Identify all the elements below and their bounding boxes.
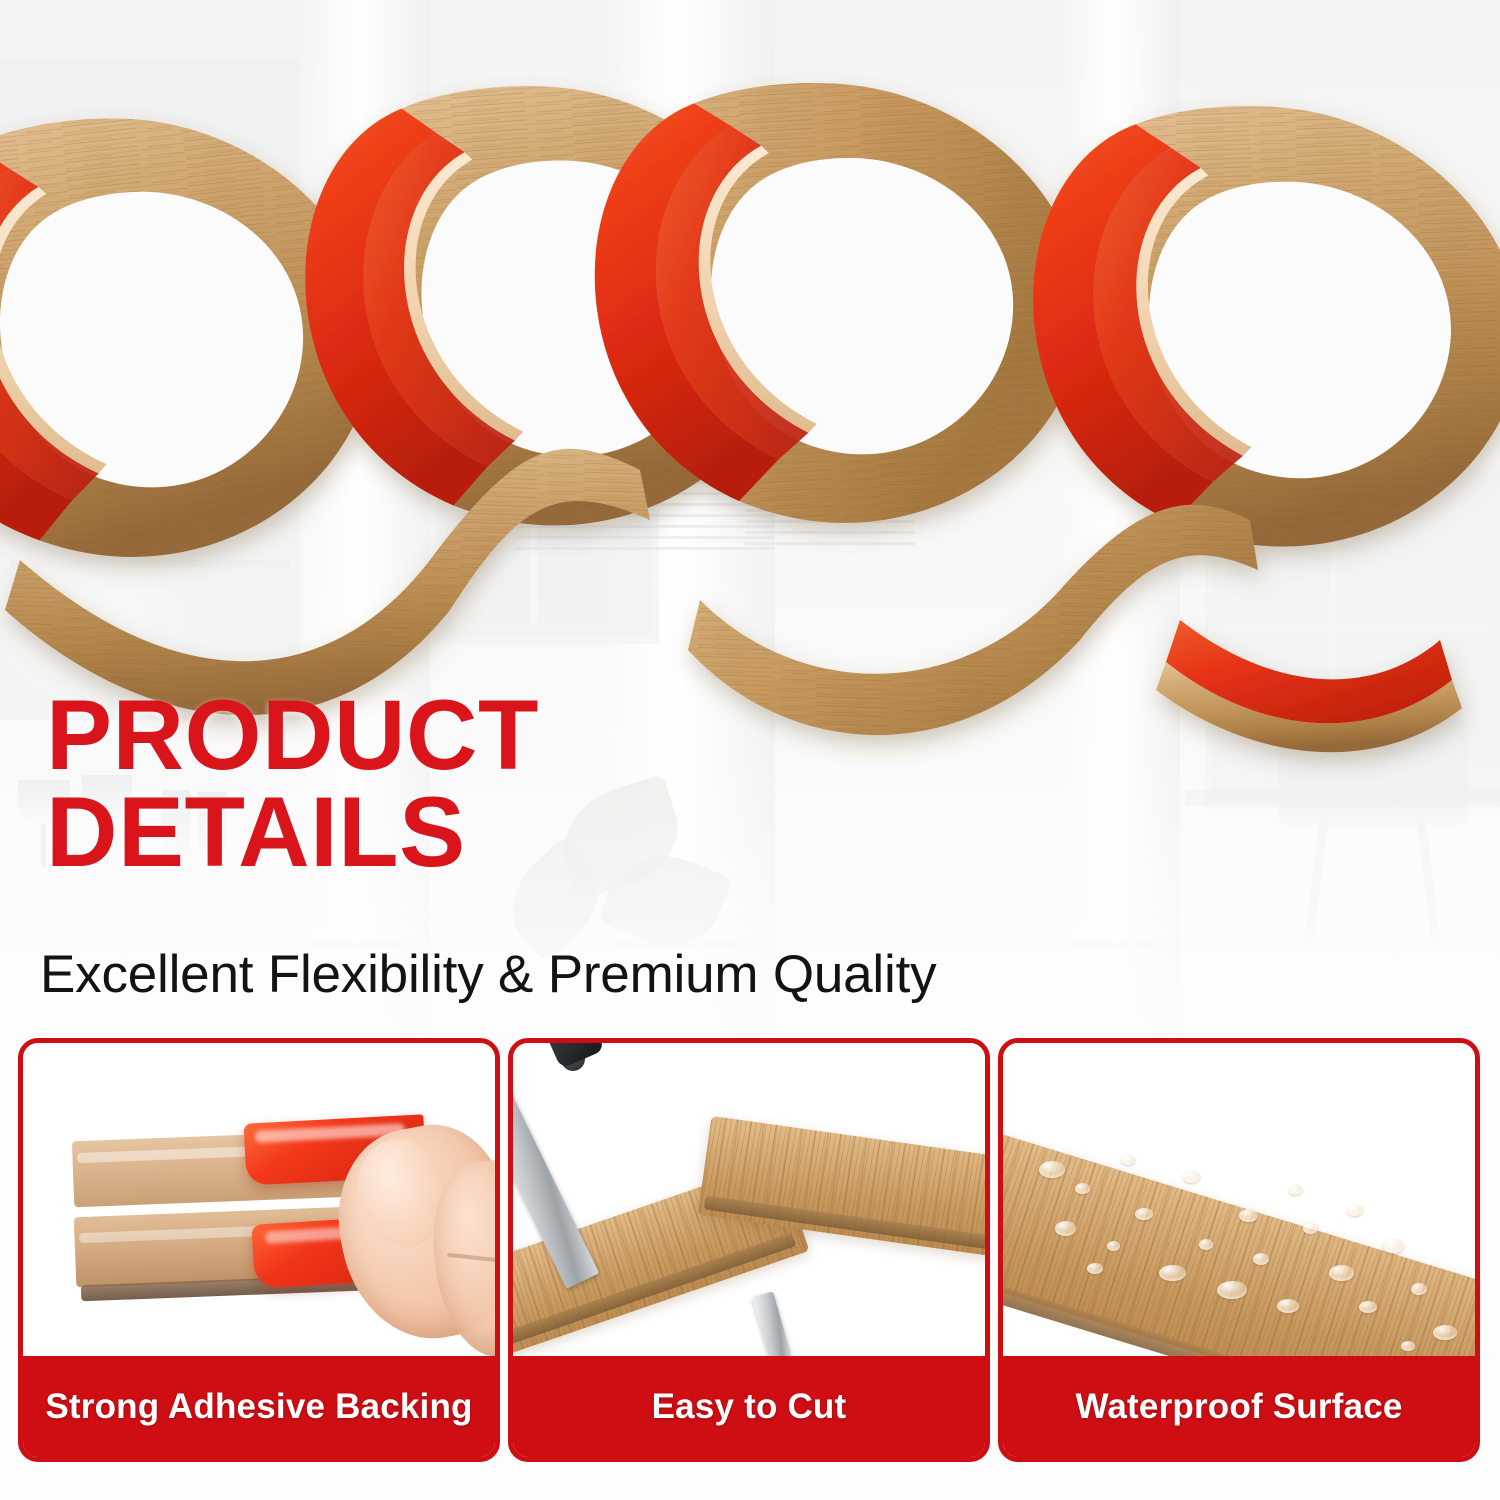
water-droplet [1039,1161,1065,1178]
bg-cabinet-shelf [10,330,290,337]
panel-caption-bar-cut: Easy to Cut [512,1356,986,1458]
water-droplet [1121,1155,1135,1165]
water-droplet [1433,1325,1457,1340]
panel-caption-bar-adhesive: Strong Adhesive Backing [22,1356,496,1458]
banding-strip-wet [1003,1113,1475,1367]
water-droplet [1253,1253,1269,1265]
water-droplet [1411,1283,1427,1295]
easy-to-cut-photo [513,1043,985,1367]
bg-wave-panel [515,440,775,550]
feature-panel-cut[interactable]: Easy to Cut [508,1038,990,1462]
feature-panel-adhesive[interactable]: Strong Adhesive Backing [18,1038,500,1462]
water-droplet [1107,1241,1120,1251]
water-droplet [1159,1265,1186,1281]
water-droplet [1217,1281,1247,1299]
panel-caption-text: Strong Adhesive Backing [45,1387,472,1427]
page-title: PRODUCT DETAILS [46,686,539,880]
water-droplet [1401,1341,1415,1351]
bg-window-mullion [1212,625,1488,632]
water-droplet [1329,1265,1354,1281]
water-droplet [1087,1263,1103,1274]
panel-caption-text: Easy to Cut [652,1387,847,1427]
water-droplet [1277,1299,1299,1313]
water-droplet [1289,1185,1302,1195]
water-droplet [1075,1183,1090,1194]
panel-caption-text: Waterproof Surface [1075,1387,1402,1427]
water-droplet [1199,1239,1213,1250]
feature-panels: Strong Adhesive Backing Easy t [0,1038,1500,1468]
bg-flower-glow [0,530,170,680]
water-droplet [1383,1239,1404,1253]
background-interior-scene [0,0,1500,1045]
water-droplet [1135,1208,1153,1220]
panel-caption-bar-waterproof: Waterproof Surface [1002,1356,1476,1458]
scissors-blade-lower [752,1291,792,1364]
adhesive-backing-photo [23,1043,495,1367]
water-droplet [1303,1223,1318,1234]
waterproof-surface-photo [1003,1043,1475,1367]
water-droplet [1183,1171,1200,1183]
water-droplet [1347,1205,1363,1216]
product-detail-image: PRODUCT DETAILS Excellent Flexibility & … [0,0,1500,1500]
water-droplet [1055,1221,1076,1236]
water-droplet [1359,1301,1377,1313]
page-subtitle: Excellent Flexibility & Premium Quality [40,944,936,1005]
water-droplet [1239,1209,1258,1222]
bg-wave-panel [745,455,915,545]
feature-panel-waterproof[interactable]: Waterproof Surface [998,1038,1480,1462]
